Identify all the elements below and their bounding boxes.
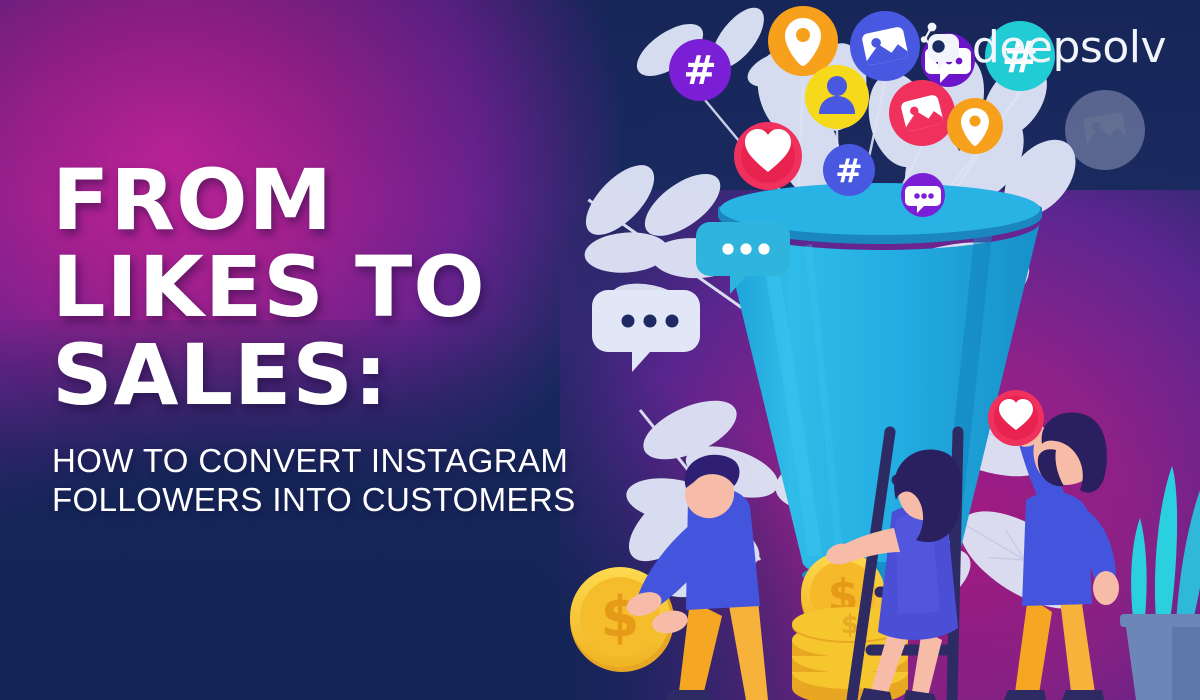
headline-line-2: LIKES TO <box>52 247 672 328</box>
headline-line-1: FROM <box>52 160 672 241</box>
brand-wordmark: deepsolv <box>972 26 1166 70</box>
location-pin-icon <box>768 6 838 76</box>
svg-text:#: # <box>835 151 863 190</box>
comment-bubble-icon <box>901 173 945 217</box>
speech-bubble-nodes-icon <box>919 22 965 74</box>
location-pin-icon <box>947 98 1003 154</box>
heart-icon <box>734 122 802 190</box>
hashtag-icon: # <box>823 144 875 196</box>
hashtag-icon: # <box>669 39 731 101</box>
brand-logo[interactable]: deepsolv <box>919 22 1166 74</box>
heart-icon-held <box>988 390 1044 446</box>
potted-plant <box>1120 466 1200 700</box>
promo-banner: deepsolv FROM LIKES TO SALES: HOW TO CON… <box>0 0 1200 700</box>
user-icon <box>805 65 869 129</box>
svg-text:$: $ <box>601 585 640 650</box>
subheadline-line-2: FOLLOWERS INTO CUSTOMERS <box>52 481 672 520</box>
photo-icon-ghost <box>1065 90 1145 170</box>
subheadline-block: HOW TO CONVERT INSTAGRAM FOLLOWERS INTO … <box>52 442 672 520</box>
headline-line-3: SALES: <box>52 335 672 416</box>
headline-block: FROM LIKES TO SALES: HOW TO CONVERT INST… <box>52 160 672 520</box>
photo-icon <box>850 11 920 81</box>
svg-text:#: # <box>683 48 717 94</box>
subheadline-line-1: HOW TO CONVERT INSTAGRAM <box>52 442 672 481</box>
photo-icon <box>889 80 955 146</box>
